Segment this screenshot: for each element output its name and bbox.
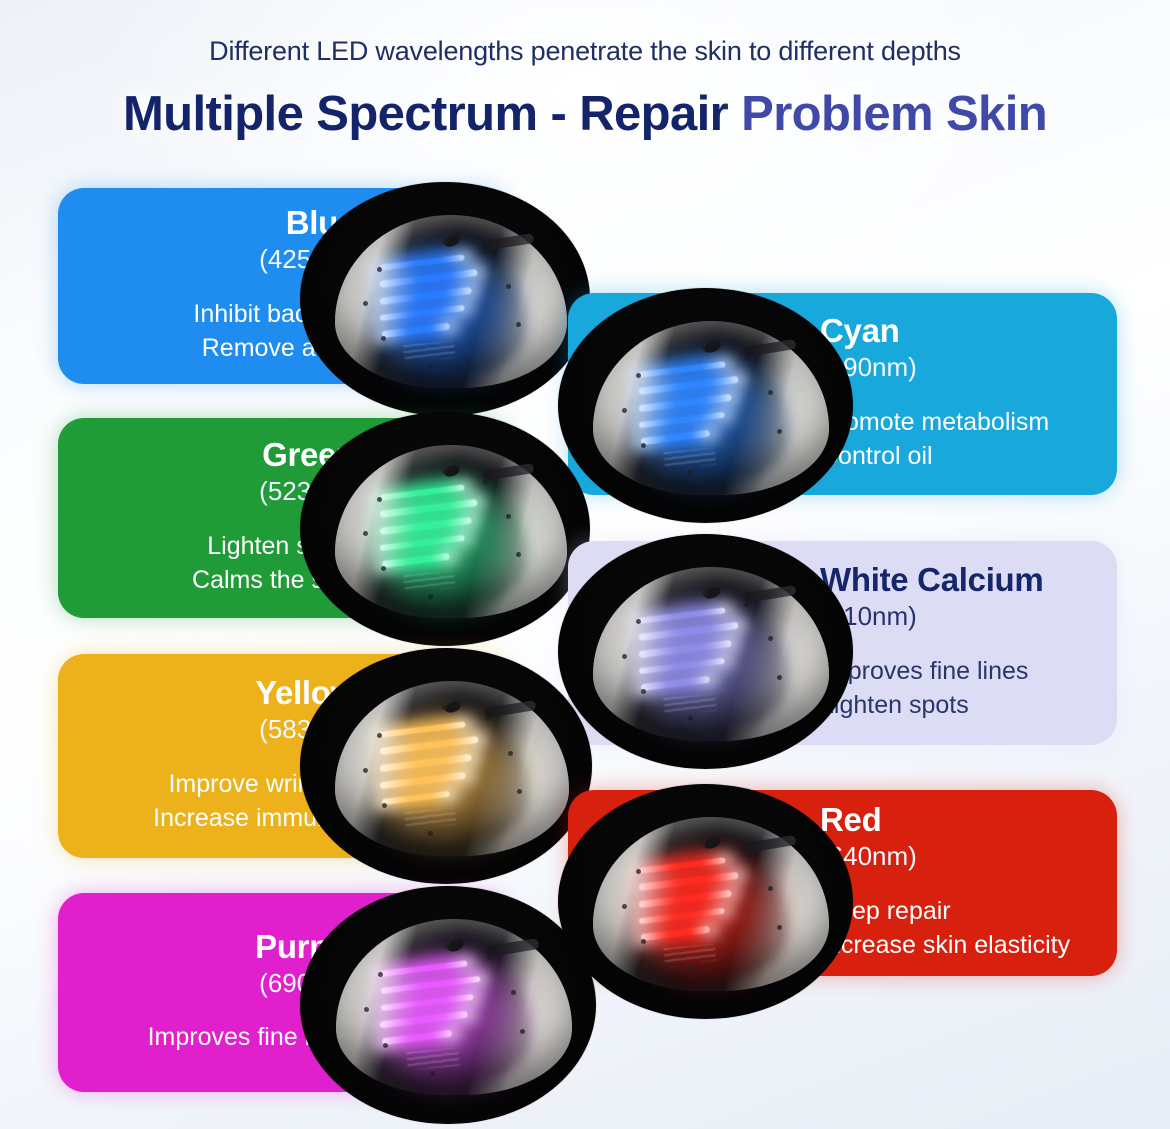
device-dome-cyan (558, 288, 853, 523)
device-photo-white-calcium (558, 534, 853, 769)
dome-screws (335, 445, 567, 618)
dome-screws (335, 681, 569, 856)
device-photo-purple (300, 886, 596, 1124)
card-benefit-list: Deep repairIncrease skin elasticity (820, 894, 1070, 963)
dome-shell (593, 321, 829, 495)
poster-title-primary: Multiple Spectrum - Repair (123, 87, 741, 141)
device-dome-green (300, 412, 590, 646)
poster-title-accent: Problem Skin (741, 87, 1047, 141)
card-benefit: Increase skin elasticity (820, 928, 1070, 963)
card-benefit: Deep repair (820, 894, 1070, 929)
dome-screws (593, 321, 829, 495)
device-photo-cyan (558, 288, 853, 523)
dome-screws (593, 567, 829, 741)
card-color-name: White Calcium (820, 563, 1043, 598)
card-text-block-cyan: Cyan(490nm)Promote metabolismControl oil (820, 293, 1099, 495)
card-text-block-red: Red(640nm)Deep repairIncrease skin elast… (820, 790, 1099, 976)
poster-title: Multiple Spectrum - Repair Problem Skin (0, 86, 1170, 142)
device-dome-yellow (300, 648, 592, 884)
device-photo-red (558, 784, 853, 1019)
device-photo-yellow (300, 648, 592, 884)
dome-shell (335, 681, 569, 856)
dome-shell (335, 215, 567, 388)
dome-shell (335, 445, 567, 618)
dome-screws (336, 919, 573, 1095)
device-dome-purple (300, 886, 596, 1124)
poster-subtitle: Different LED wavelengths penetrate the … (0, 36, 1170, 67)
device-dome-blue (300, 182, 590, 416)
dome-shell (593, 567, 829, 741)
device-photo-green (300, 412, 590, 646)
device-dome-red (558, 784, 853, 1019)
dome-shell (336, 919, 573, 1095)
dome-screws (335, 215, 567, 388)
card-benefit: Control oil (820, 439, 1049, 474)
dome-shell (593, 817, 829, 991)
dome-screws (593, 817, 829, 991)
card-text-block-white-calcium: White Calcium(510nm)Improves fine linesL… (820, 541, 1099, 745)
card-benefit-list: Promote metabolismControl oil (820, 405, 1049, 474)
card-benefit: Promote metabolism (820, 405, 1049, 440)
device-dome-white-calcium (558, 534, 853, 769)
infographic-poster: Different LED wavelengths penetrate the … (0, 0, 1170, 1129)
device-photo-blue (300, 182, 590, 416)
